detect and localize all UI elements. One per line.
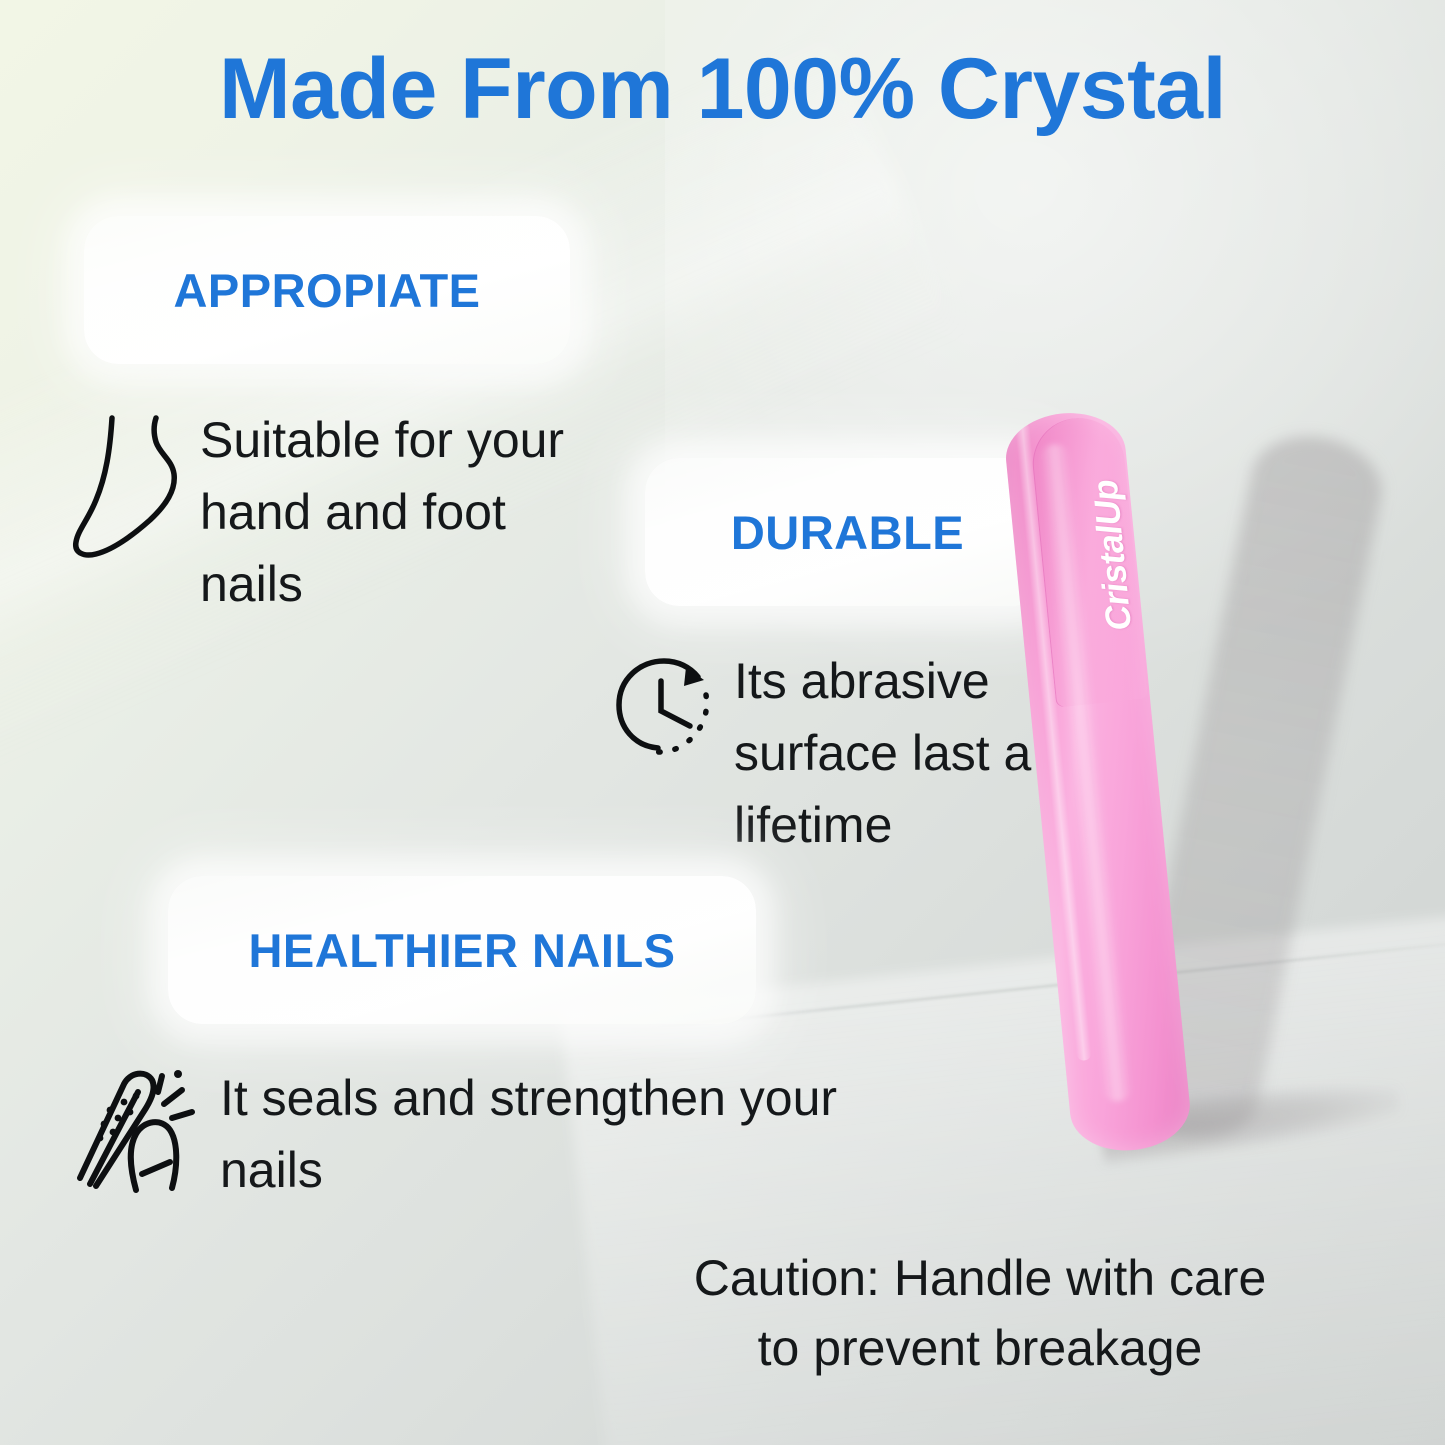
caution-line-1: Caution: Handle with care: [600, 1243, 1360, 1313]
badge-healthier-nails: HEALTHIER NAILS: [168, 876, 756, 1024]
badge-healthier-nails-label: HEALTHIER NAILS: [248, 923, 675, 978]
product-nail-file: CristalUp: [1000, 390, 1420, 1180]
badge-appropiate-label: APPROPIATE: [173, 263, 480, 318]
product-brand-text: CristalUp: [1081, 429, 1145, 682]
badge-durable: DURABLE: [645, 458, 1050, 606]
page-title-heavy: 100% Crystal: [697, 41, 1226, 137]
nail-file-icon: [66, 1062, 206, 1194]
foot-icon: [66, 404, 184, 564]
badge-durable-label: DURABLE: [731, 505, 964, 560]
page-title: Made From 100% Crystal: [0, 46, 1445, 134]
clock-history-icon: [614, 651, 718, 763]
feature-appropiate: Suitable for your hand and foot nails: [66, 404, 600, 620]
product-body: CristalUp: [1002, 408, 1194, 1156]
badge-appropiate: APPROPIATE: [84, 216, 570, 364]
caution-line-2: to prevent breakage: [600, 1313, 1360, 1383]
caution-note: Caution: Handle with care to prevent bre…: [600, 1243, 1360, 1383]
feature-healthier-nails: It seals and strengthen your nails: [66, 1062, 840, 1206]
feature-durable: Its abrasive surface last a lifetime: [614, 645, 1044, 861]
page-title-light: Made From: [219, 41, 697, 137]
feature-appropiate-text: Suitable for your hand and foot nails: [200, 404, 600, 620]
feature-healthier-nails-text: It seals and strengthen your nails: [220, 1062, 840, 1206]
feature-durable-text: Its abrasive surface last a lifetime: [734, 645, 1044, 861]
infographic-stage: Made From 100% Crystal APPROPIATE Suitab…: [0, 0, 1445, 1445]
